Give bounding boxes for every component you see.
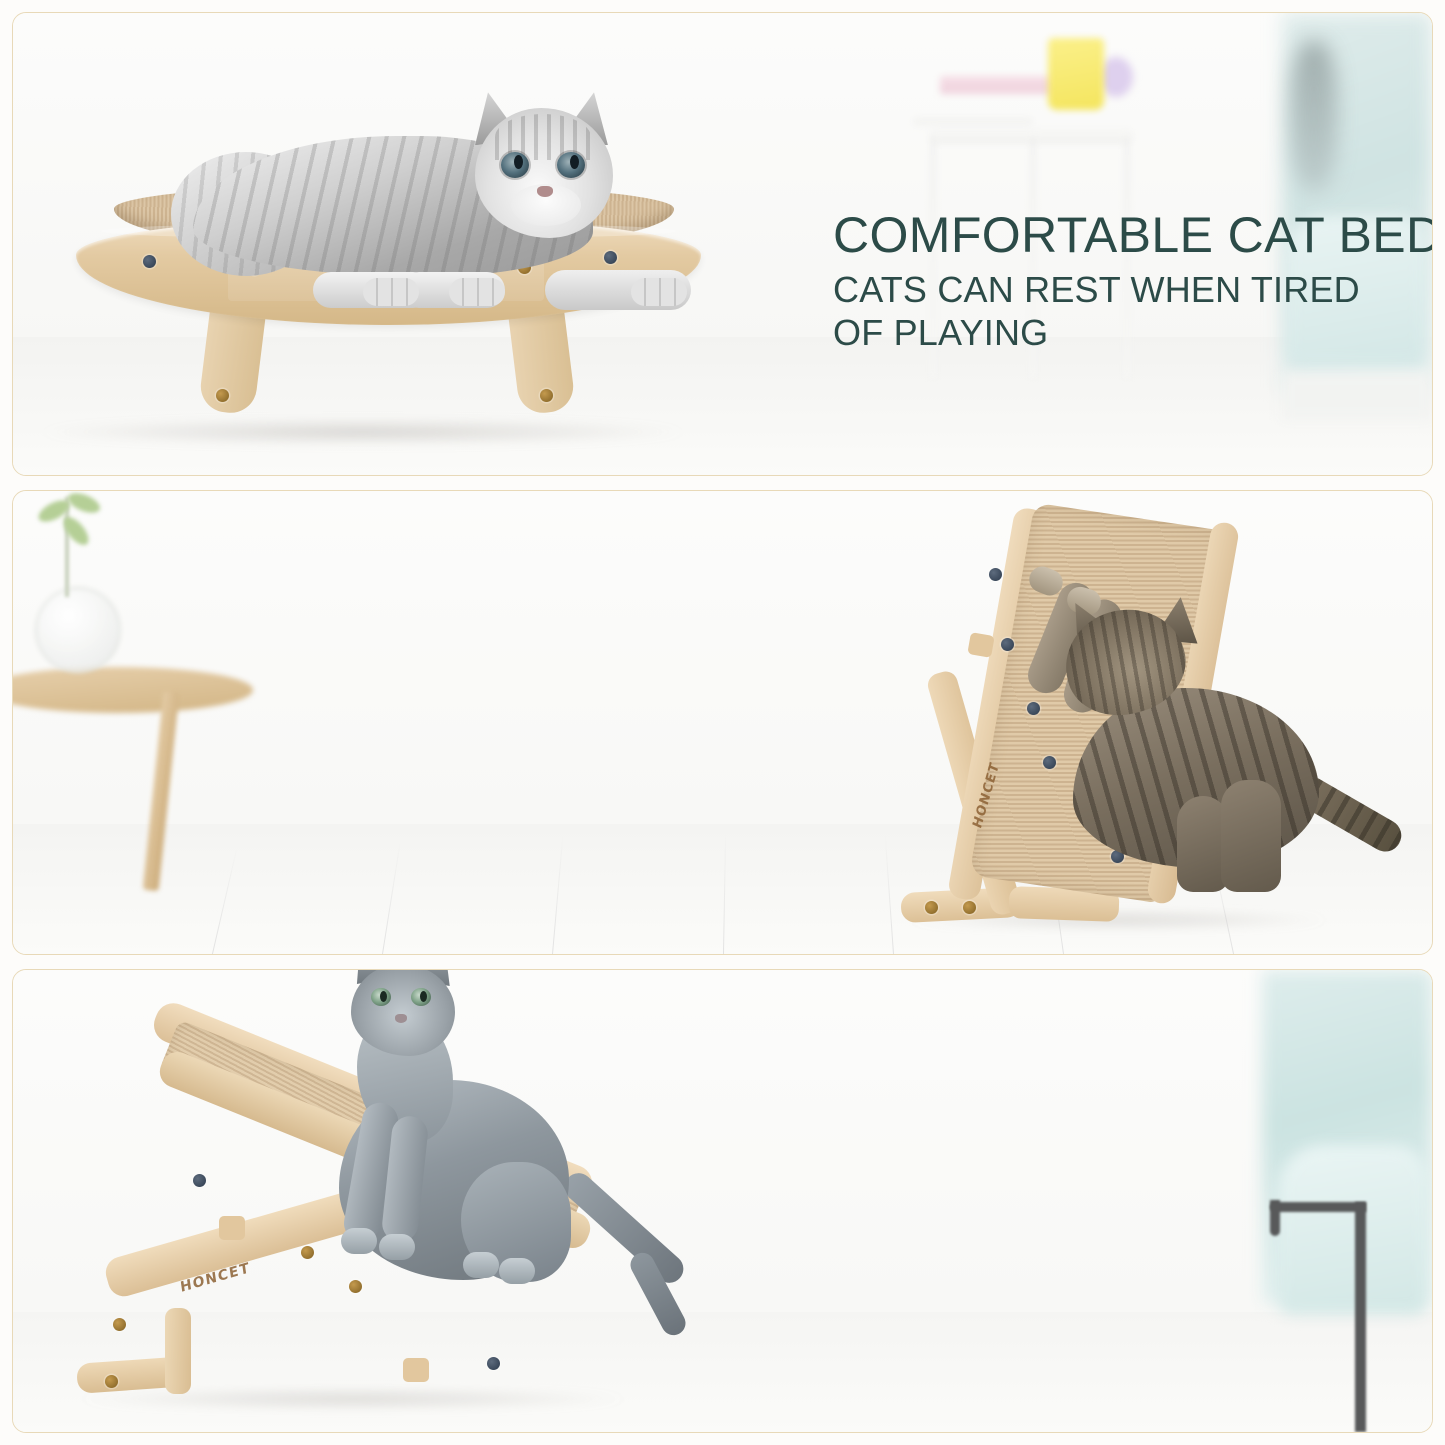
mug-handle-blur (1099, 57, 1133, 97)
cat-paw (379, 1234, 415, 1260)
screw (105, 1375, 118, 1388)
cat-brown-tabby-kitten (1053, 584, 1423, 924)
table-leg-horizontal (1270, 1202, 1366, 1212)
cat-toes (363, 278, 419, 306)
panel-1-body-line-2: OF PLAYING (833, 311, 1433, 354)
product-feature-infographic: HONCET COMFORTABLE CAT BED CATS CAN REST… (0, 0, 1445, 1445)
screw (487, 1357, 500, 1370)
cat-paw (499, 1258, 535, 1284)
cat-russian-blue (313, 969, 663, 1352)
screw (989, 568, 1002, 581)
scratcher-strut (165, 1308, 191, 1394)
panel-1-body: CATS CAN REST WHEN TIRED OF PLAYING (833, 268, 1433, 354)
feature-panel-comfortable-cat-bed: HONCET COMFORTABLE CAT BED CATS CAN REST… (12, 12, 1433, 476)
table-leg-vertical (1355, 1202, 1366, 1432)
sofa-base-blur (1282, 372, 1432, 420)
cat-eye-left (371, 988, 391, 1006)
panel-1-headline: COMFORTABLE CAT BED (833, 209, 1433, 262)
feature-panel-70-degree-scratcher: HONCET 70° SCRATCHER SCRATCHING AND PLAY… (12, 490, 1433, 954)
cat-hind-leg (1221, 780, 1281, 892)
sofa-cushion-blur (1278, 1145, 1428, 1315)
screw (113, 1318, 126, 1331)
screw (193, 1174, 206, 1187)
adjustment-tab (219, 1216, 245, 1240)
cat-toes (631, 278, 687, 306)
screw (1027, 702, 1040, 715)
text-block-panel-1: COMFORTABLE CAT BED CATS CAN REST WHEN T… (833, 209, 1433, 354)
screw (925, 901, 938, 914)
screw (1001, 638, 1014, 651)
cat-toes (449, 278, 505, 306)
cat-paw (341, 1228, 377, 1254)
cat-silver-tabby (163, 100, 683, 310)
adjustment-tab (967, 632, 994, 658)
cat-nose (395, 1014, 407, 1023)
table-leg-vertical (1270, 1200, 1280, 1236)
cat-eye-right (411, 988, 431, 1006)
adjustment-tab (403, 1358, 429, 1382)
screw (963, 901, 976, 914)
feature-panel-40-degree-scratcher: HONCET 40° SCRATCHER SUITABLE FOR KITT (12, 969, 1433, 1433)
glass-vase-blur (35, 587, 121, 673)
sofa-shadow-blur (1291, 41, 1337, 191)
books-blur (940, 76, 1062, 94)
cat-paw (463, 1252, 499, 1278)
yellow-mug-blur (1048, 38, 1104, 110)
panel-1-body-line-1: CATS CAN REST WHEN TIRED (833, 268, 1433, 311)
